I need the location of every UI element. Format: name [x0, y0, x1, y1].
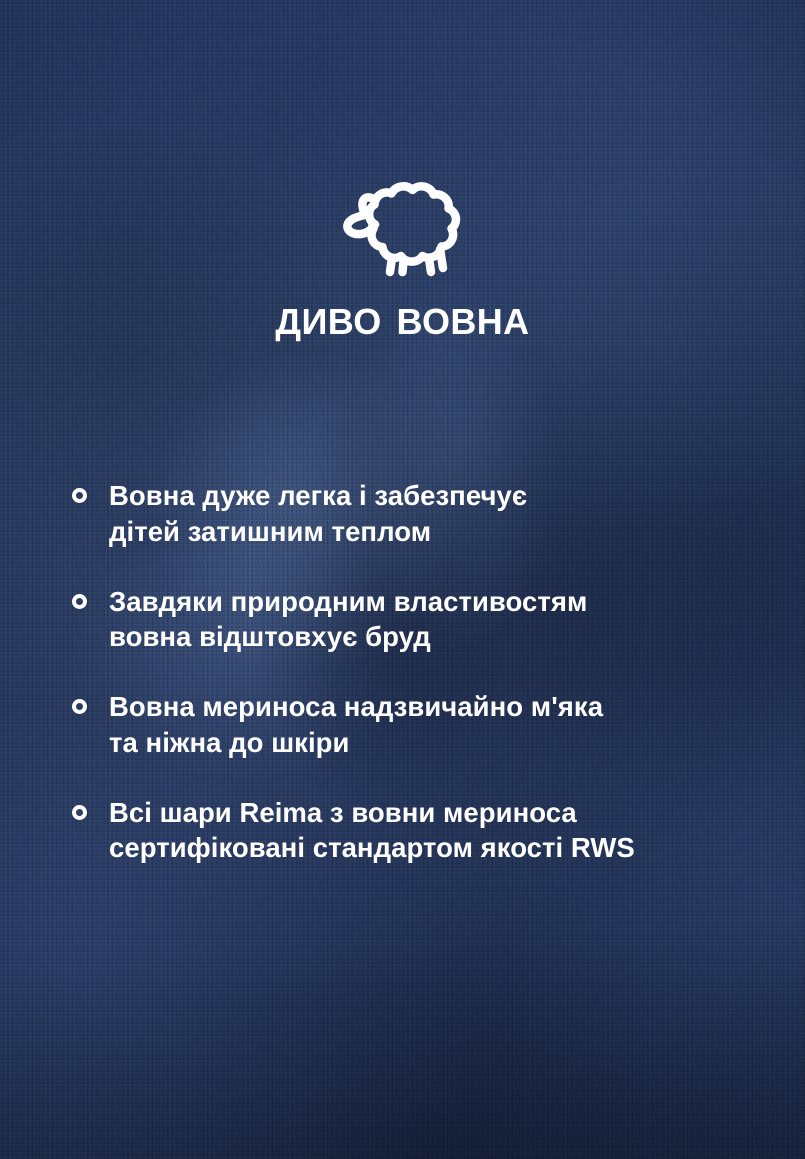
list-item-text: Всі шари Reima з вовни мериноса сертифік…	[109, 795, 635, 867]
list-item-line: Вовна мериноса надзвичайно м'яка	[109, 689, 603, 725]
list-item: Всі шари Reima з вовни мериноса сертифік…	[72, 795, 775, 867]
ring-bullet-icon	[72, 805, 87, 820]
list-item-text: Завдяки природним властивостям вовна від…	[109, 584, 587, 656]
sheep-icon-container	[0, 173, 805, 277]
list-item: Вовна мериноса надзвичайно м'яка та ніжн…	[72, 689, 775, 761]
list-item-line: вовна відштовхує бруд	[109, 619, 587, 655]
ring-bullet-icon	[72, 699, 87, 714]
list-item-line: Завдяки природним властивостям	[109, 584, 587, 620]
list-item-line: та ніжна до шкіри	[109, 725, 603, 761]
list-item-text: Вовна дуже легка і забезпечує дітей зати…	[109, 478, 527, 550]
list-item-line: Всі шари Reima з вовни мериноса	[109, 795, 635, 831]
list-item-text: Вовна мериноса надзвичайно м'яка та ніжн…	[109, 689, 603, 761]
wool-feature-poster: Диво вовна Вовна дуже легка і забезпечує…	[0, 0, 805, 1159]
feature-list: Вовна дуже легка і забезпечує дітей зати…	[72, 478, 775, 866]
list-item-line: Вовна дуже легка і забезпечує	[109, 478, 527, 514]
poster-title: Диво вовна	[0, 291, 805, 343]
list-item: Завдяки природним властивостям вовна від…	[72, 584, 775, 656]
list-item-line: дітей затишним теплом	[109, 514, 527, 550]
ring-bullet-icon	[72, 594, 87, 609]
sheep-icon	[337, 173, 469, 277]
ring-bullet-icon	[72, 488, 87, 503]
list-item-line: сертифіковані стандартом якості RWS	[109, 830, 635, 866]
list-item: Вовна дуже легка і забезпечує дітей зати…	[72, 478, 775, 550]
